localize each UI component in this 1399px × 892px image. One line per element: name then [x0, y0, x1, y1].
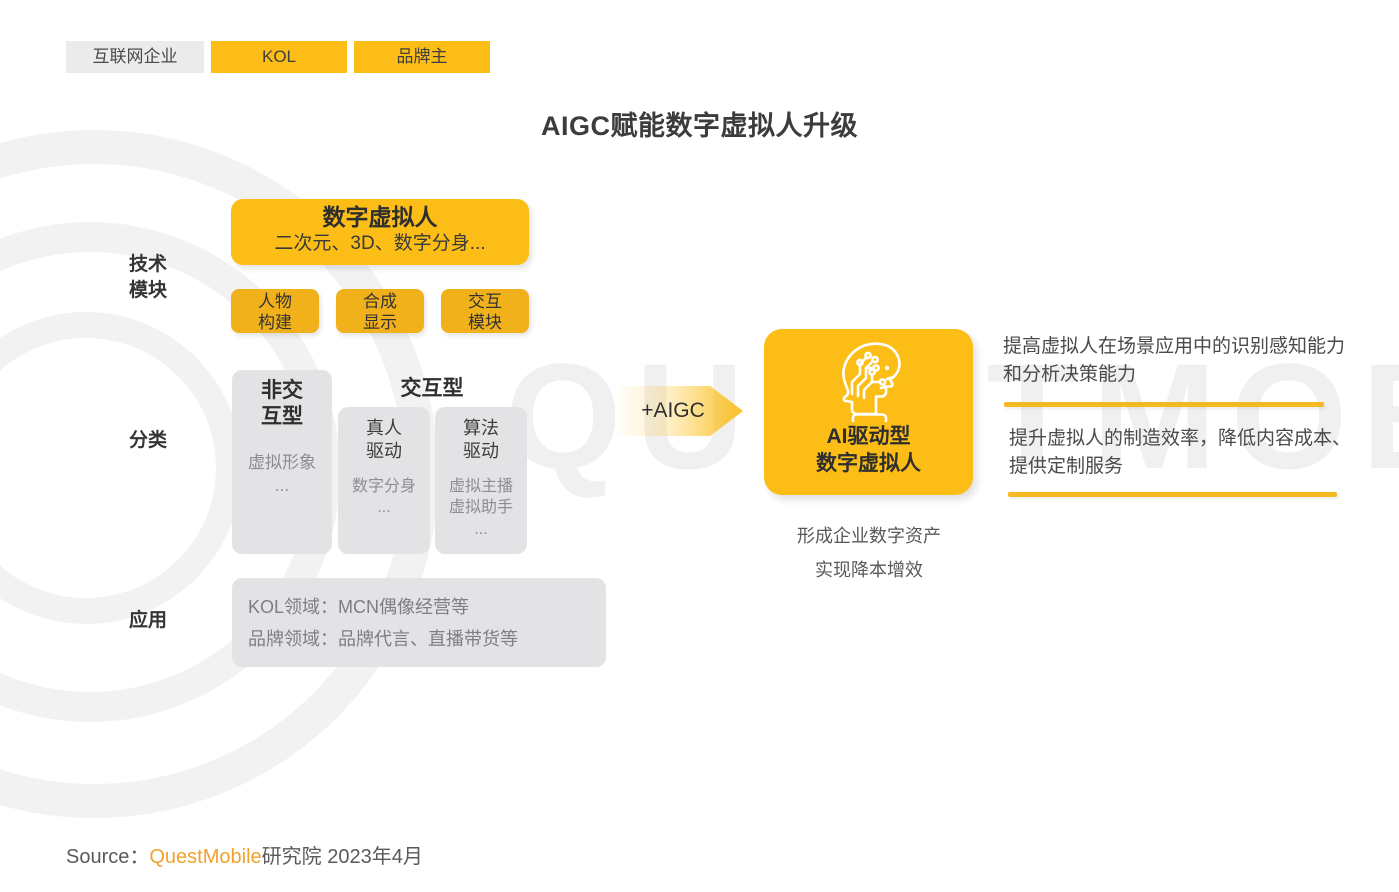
class-box-real-person-driven[interactable]: 真人 驱动 数字分身 ...	[338, 407, 430, 554]
aigc-arrow: +AIGC	[617, 386, 743, 436]
application-line-kol: KOL领域：MCN偶像经营等	[248, 592, 606, 624]
tech-module-character-building[interactable]: 人物 构建	[231, 289, 319, 333]
ai-card-name: AI驱动型 数字虚拟人	[764, 424, 973, 478]
aigc-arrow-label: +AIGC	[617, 386, 743, 436]
class-box-algorithm-driven[interactable]: 算法 驱动 虚拟主播 虚拟助手 ...	[435, 407, 527, 554]
source-brand: QuestMobile	[149, 846, 261, 868]
class-real-head: 真人 驱动	[338, 407, 430, 464]
tech-module-interaction[interactable]: 交互 模块	[441, 289, 529, 333]
infographic-canvas: QUESTMOBILE 互联网企业 KOL 品牌主 AIGC赋能数字虚拟人升级 …	[0, 0, 1399, 892]
legend: 互联网企业 KOL 品牌主	[66, 41, 490, 73]
ai-card-name-line1: AI驱动型	[764, 424, 973, 451]
ai-card-name-line2: 数字虚拟人	[764, 451, 973, 478]
ai-caption-line2: 实现降本增效	[734, 553, 1004, 587]
class-algo-body: 虚拟主播 虚拟助手 ...	[435, 476, 527, 541]
class-box-non-interactive[interactable]: 非交 互型 虚拟形象 ...	[232, 370, 332, 554]
source-prefix: Source：	[66, 846, 149, 868]
ai-card-caption: 形成企业数字资产 实现降本增效	[734, 519, 1004, 587]
page-title: AIGC赋能数字虚拟人升级	[0, 104, 1399, 143]
tech-module-2-line2: 显示	[336, 312, 424, 333]
class-real-body-line2: ...	[338, 497, 430, 519]
ai-head-circuit-icon	[830, 338, 908, 422]
class-non-interactive-body: 虚拟形象 ...	[232, 451, 332, 499]
source-suffix: 研究院 2023年4月	[262, 846, 423, 868]
source-line: Source：QuestMobile研究院 2023年4月	[66, 840, 423, 869]
card-ai-driven-digital-human[interactable]: AI驱动型 数字虚拟人	[764, 329, 973, 495]
card-digital-human-subtitle: 二次元、3D、数字分身...	[231, 232, 529, 256]
benefit-text-perception: 提高虚拟人在场景应用中的识别感知能力和分析决策能力	[1003, 333, 1348, 388]
row-label-tech-line2: 模块	[105, 278, 191, 304]
tech-module-1-line1: 人物	[231, 291, 319, 312]
class-algo-body-line1: 虚拟主播	[435, 476, 527, 498]
class-non-interactive-body-line2: ...	[232, 474, 332, 498]
class-non-interactive-head: 非交 互型	[232, 370, 332, 431]
row-label-classification: 分类	[105, 428, 191, 454]
benefit-divider-2	[1008, 492, 1337, 497]
class-algo-head: 算法 驱动	[435, 407, 527, 464]
class-algo-head-line2: 驱动	[435, 440, 527, 463]
class-algo-head-line1: 算法	[435, 417, 527, 440]
legend-chip-kol[interactable]: KOL	[211, 41, 347, 73]
row-label-tech-line1: 技术	[105, 252, 191, 278]
row-label-application: 应用	[105, 608, 191, 634]
benefit-text-efficiency: 提升虚拟人的制造效率，降低内容成本、提供定制服务	[1009, 425, 1354, 480]
card-digital-human-title: 数字虚拟人	[231, 204, 529, 232]
class-real-body-line1: 数字分身	[338, 476, 430, 498]
card-digital-human[interactable]: 数字虚拟人 二次元、3D、数字分身...	[231, 199, 529, 265]
class-real-body: 数字分身 ...	[338, 476, 430, 519]
tech-module-synthesis-display[interactable]: 合成 显示	[336, 289, 424, 333]
tech-module-2-line1: 合成	[336, 291, 424, 312]
benefit-divider-1	[1004, 402, 1324, 407]
class-non-interactive-body-line1: 虚拟形象	[232, 451, 332, 475]
class-algo-body-line2: 虚拟助手	[435, 497, 527, 519]
class-interactive-header: 交互型	[332, 372, 532, 402]
legend-chip-brand-owner[interactable]: 品牌主	[354, 41, 490, 73]
tech-module-3-line1: 交互	[441, 291, 529, 312]
application-line-brand: 品牌领域：品牌代言、直播带货等	[248, 624, 606, 656]
ai-caption-line1: 形成企业数字资产	[734, 519, 1004, 553]
application-box[interactable]: KOL领域：MCN偶像经营等 品牌领域：品牌代言、直播带货等	[232, 578, 606, 667]
tech-module-1-line2: 构建	[231, 312, 319, 333]
class-algo-body-line3: ...	[435, 519, 527, 541]
class-real-head-line2: 驱动	[338, 440, 430, 463]
row-label-tech-module: 技术 模块	[105, 252, 191, 303]
class-non-interactive-head-line1: 非交	[232, 378, 332, 404]
legend-chip-internet-enterprise[interactable]: 互联网企业	[66, 41, 204, 73]
class-real-head-line1: 真人	[338, 417, 430, 440]
class-non-interactive-head-line2: 互型	[232, 404, 332, 430]
tech-module-3-line2: 模块	[441, 312, 529, 333]
